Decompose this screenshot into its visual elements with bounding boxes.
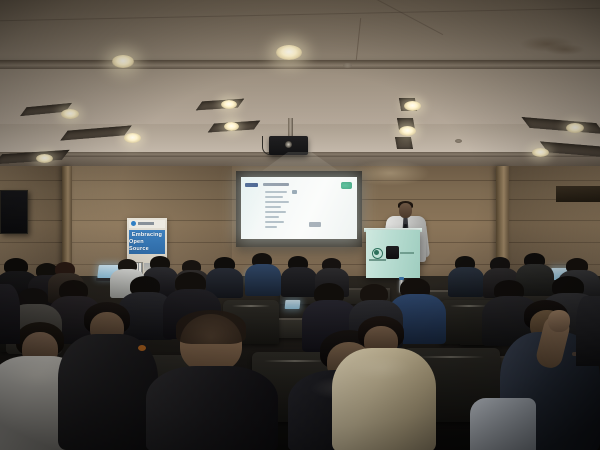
slide-content xyxy=(241,177,357,239)
green-logo-icon xyxy=(341,182,352,189)
projection-screen xyxy=(241,177,357,239)
slide-bullet-line xyxy=(265,201,289,203)
slide-bullet-line xyxy=(265,216,279,218)
chair-highlight xyxy=(264,360,326,362)
slide-bullet-line xyxy=(265,221,284,223)
ceiling-mid-plane xyxy=(0,69,600,124)
ceiling xyxy=(0,0,600,172)
laptop-screen xyxy=(285,300,301,309)
downlight xyxy=(566,123,584,133)
slide-chip xyxy=(292,190,297,194)
downlight xyxy=(276,45,302,60)
lectern-logo-text xyxy=(369,259,386,261)
downlight xyxy=(124,133,141,143)
lectern-equipment xyxy=(386,246,399,259)
smoke-detector-icon xyxy=(343,63,352,68)
smoke-detector-icon xyxy=(455,139,462,143)
lectern-side-text xyxy=(400,252,414,254)
projector-lens-icon xyxy=(285,141,292,148)
banner-line-1: Embracing xyxy=(132,232,162,239)
conference-room-photo: Embracing Open Source xyxy=(0,0,600,450)
lectern-logo-dot xyxy=(374,250,379,255)
slide-bullet-line xyxy=(265,191,287,193)
projector-mount xyxy=(288,118,293,138)
jacket-logo-icon xyxy=(138,345,146,351)
downlight xyxy=(36,154,53,163)
ceiling-light-trough xyxy=(395,137,413,149)
slide-bullet-line xyxy=(265,206,281,208)
downlight xyxy=(112,55,134,68)
slide-bullet-line xyxy=(265,196,283,198)
banner-logo-icon xyxy=(131,221,136,226)
attendee-sleeve xyxy=(470,398,536,450)
banner-logo-text xyxy=(138,222,154,225)
downlight xyxy=(61,109,79,119)
chair-highlight xyxy=(450,305,488,307)
downlight xyxy=(399,126,416,136)
slide-action-button xyxy=(309,222,321,227)
speaker-head xyxy=(399,203,412,218)
slide-bullet-line xyxy=(265,226,277,228)
downlight xyxy=(221,100,237,109)
ceiling-stain xyxy=(545,44,585,55)
bottle-cap xyxy=(399,277,404,280)
wall-recess xyxy=(556,186,600,202)
chair-highlight xyxy=(232,305,270,307)
hand xyxy=(548,310,570,332)
downlight xyxy=(224,122,239,131)
slide-accent-block xyxy=(245,183,258,187)
slide-bullet-line xyxy=(265,211,286,213)
ceiling-soffit-1 xyxy=(0,60,600,69)
slide-title-text xyxy=(263,183,289,186)
downlight xyxy=(532,148,549,157)
downlight xyxy=(404,101,421,111)
wall-light-glow xyxy=(350,160,430,186)
banner-headline: Embracing Open Source xyxy=(129,230,165,254)
banner-line-2: Open Source xyxy=(129,239,165,253)
chair-highlight xyxy=(418,356,484,358)
wall-monitor xyxy=(0,190,28,234)
